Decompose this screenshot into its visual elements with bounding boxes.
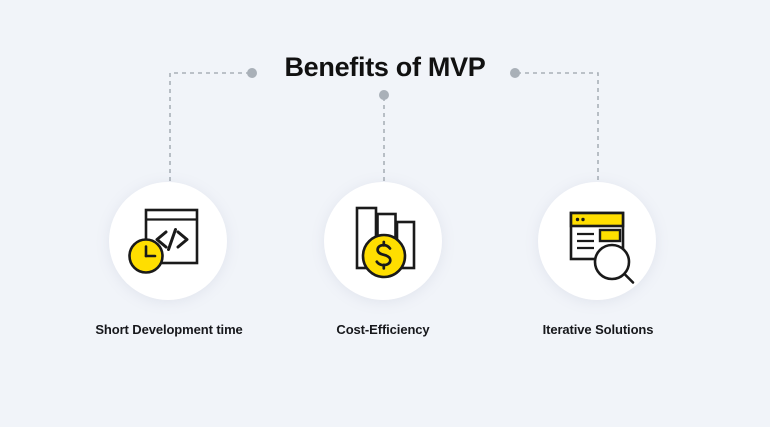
benefit-node-cost-efficiency — [324, 182, 444, 302]
infographic-canvas: Benefits of MVP — [0, 0, 770, 427]
connector-center-dot — [379, 90, 389, 100]
page-title: Benefits of MVP — [0, 52, 770, 83]
benefit-node-iterative-solutions — [538, 182, 658, 302]
connector-left — [170, 73, 250, 186]
benefit-node-short-development-time — [109, 182, 229, 302]
code-window-clock-icon — [109, 182, 227, 300]
browser-window-magnifier-icon — [538, 182, 656, 300]
bar-chart-dollar-coin-icon — [324, 182, 442, 300]
magnifying-glass-handle — [625, 274, 634, 283]
benefit-label-iterative-solutions: Iterative Solutions — [468, 322, 728, 337]
connector-right — [517, 73, 598, 186]
highlight-box — [600, 230, 620, 241]
